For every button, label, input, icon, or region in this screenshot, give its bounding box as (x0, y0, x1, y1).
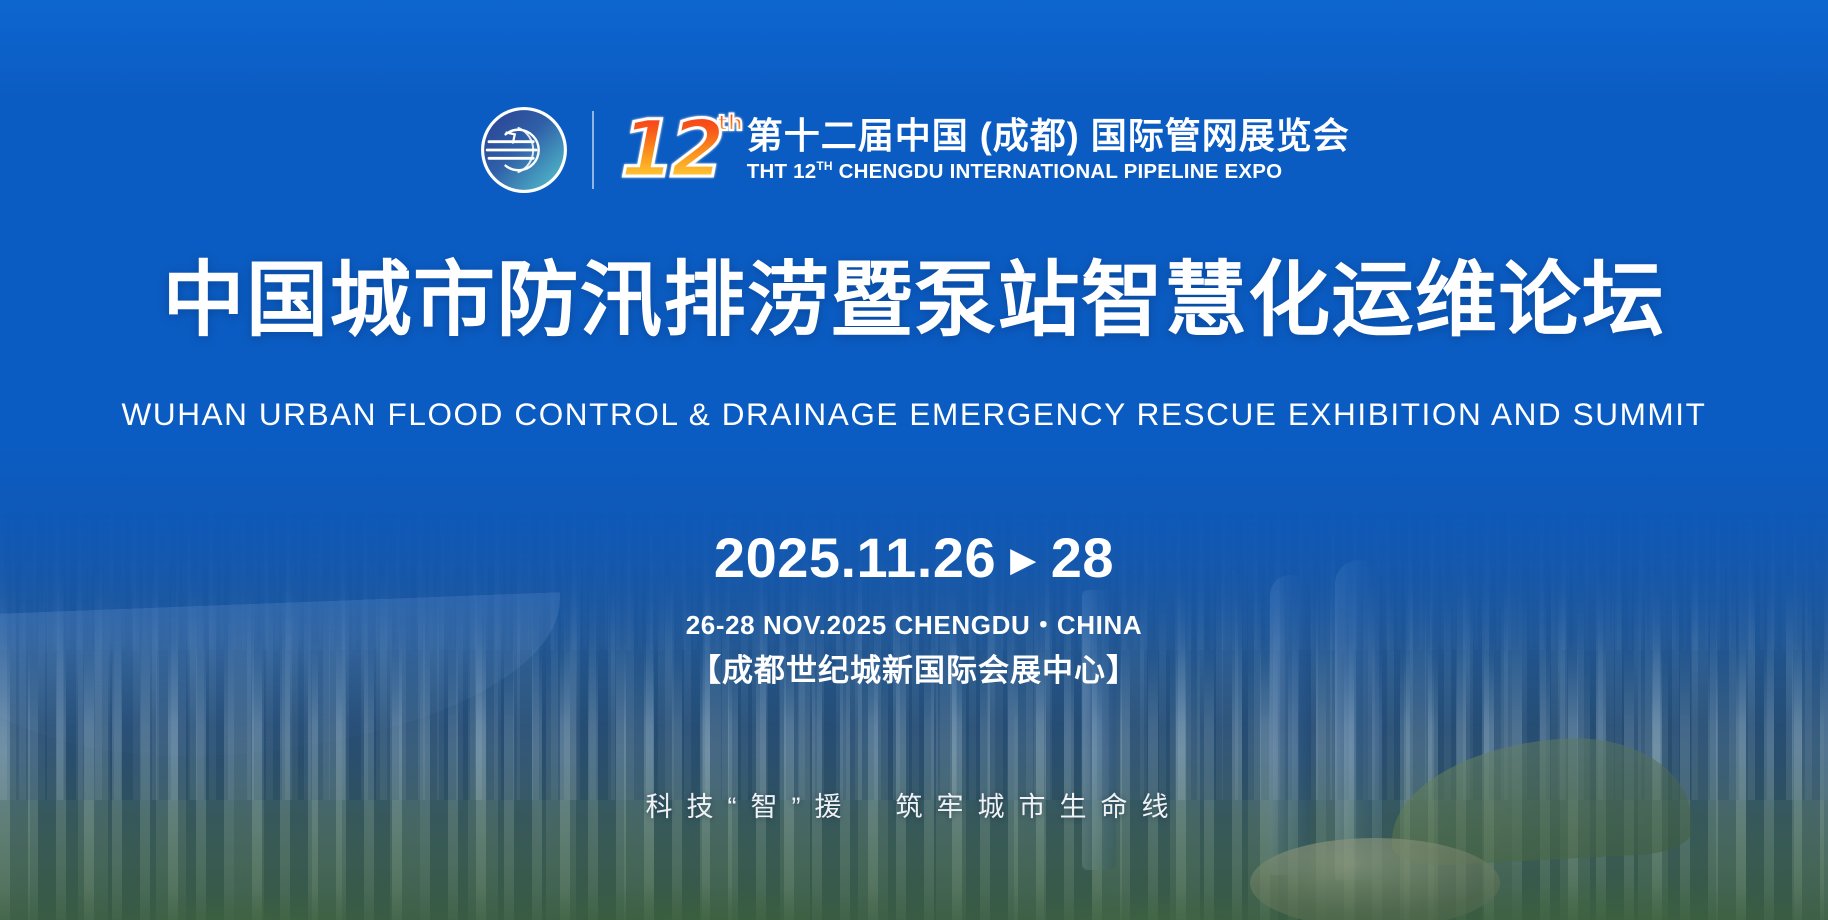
expo-name-en-prefix: THT 12 (747, 160, 817, 183)
event-date-end: 28 (1051, 526, 1114, 589)
edition-number-value: 12 (620, 105, 721, 195)
page-subtitle-en: WUHAN URBAN FLOOD CONTROL & DRAINAGE EME… (0, 396, 1828, 433)
expo-name-block: 第十二届中国 (成都) 国际管网展览会 THT 12TH CHENGDU INT… (747, 116, 1350, 183)
expo-name-en: THT 12TH CHENGDU INTERNATIONAL PIPELINE … (747, 159, 1350, 184)
banner-content: 12th 第十二届中国 (成都) 国际管网展览会 THT 12TH CHENGD… (0, 0, 1828, 920)
event-date-start: 2025.11.26 (714, 526, 996, 589)
footer-tagline-part1: 科技“智”援 (646, 792, 856, 822)
page-title: 中国城市防汛排涝暨泵站智慧化运维论坛 (0, 258, 1828, 345)
play-triangle-right-icon: ▶ (1010, 543, 1037, 577)
event-date: 2025.11.26▶28 (0, 530, 1828, 586)
event-banner: 12th 第十二届中国 (成都) 国际管网展览会 THT 12TH CHENGD… (0, 0, 1828, 920)
edition-number: 12th (616, 111, 725, 189)
event-date-en: 26-28 NOV.2025 CHENGDU・CHINA (0, 605, 1828, 642)
vertical-divider (592, 111, 594, 189)
pipeline-circle-emblem-icon (478, 104, 570, 196)
expo-name-en-sup: TH (816, 159, 832, 173)
footer-tagline: 科技“智”援筑牢城市生命线 (0, 785, 1828, 824)
expo-name-cn: 第十二届中国 (成都) 国际管网展览会 (747, 116, 1350, 156)
footer-tagline-part2: 筑牢城市生命线 (895, 792, 1182, 822)
expo-identity-row: 12th 第十二届中国 (成都) 国际管网展览会 THT 12TH CHENGD… (0, 104, 1828, 196)
expo-name-en-rest: CHENGDU INTERNATIONAL PIPELINE EXPO (833, 160, 1283, 183)
event-venue: 【成都世纪城新国际会展中心】 (0, 645, 1828, 690)
edition-ordinal-suffix: th (718, 113, 743, 134)
